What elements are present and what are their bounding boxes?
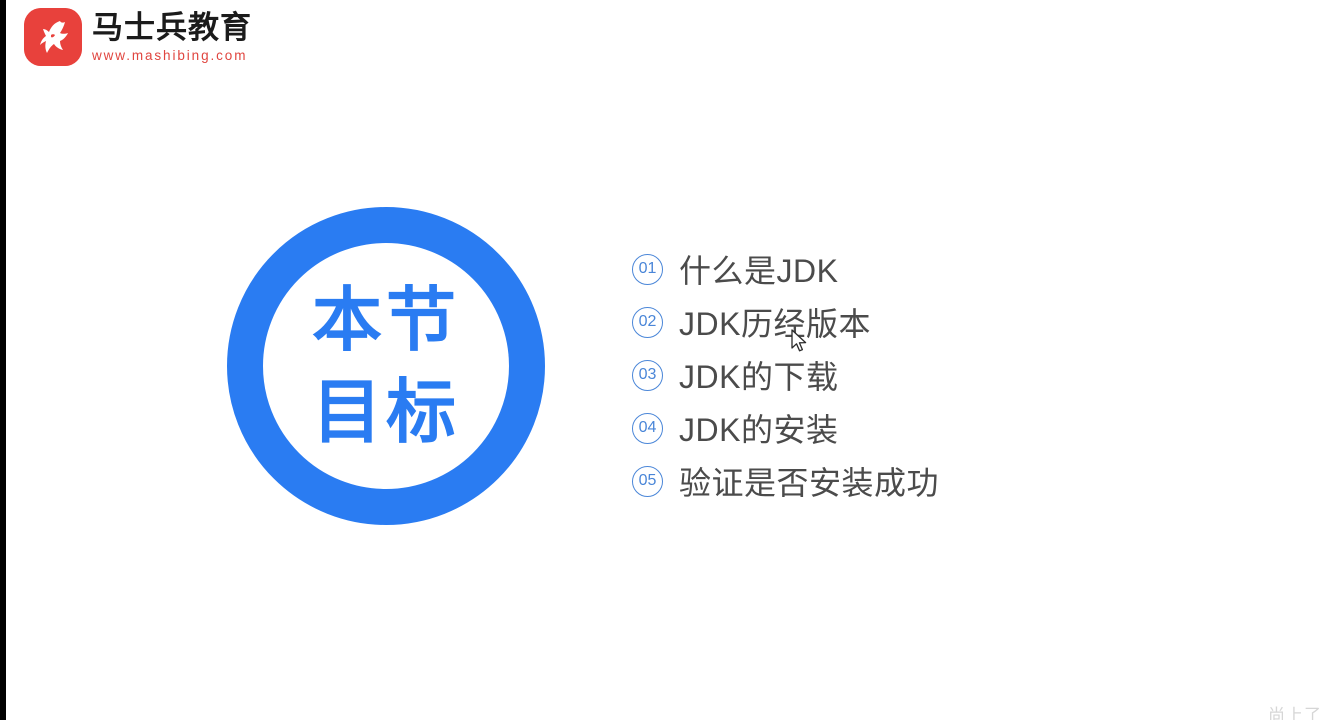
agenda-item-label: 什么是JDK: [679, 246, 838, 292]
agenda-item-label: JDK历经版本: [679, 299, 871, 345]
section-goal-emblem: 本节 目标: [227, 207, 545, 525]
agenda-list: 01 什么是JDK 02 JDK历经版本 03 JDK的下载 04 JDK的安装…: [632, 249, 939, 501]
agenda-number-badge: 03: [632, 360, 663, 391]
brand-name: 马士兵教育: [92, 12, 252, 43]
bilibili-logo-icon: [1272, 2, 1326, 46]
agenda-item-label: JDK的安装: [679, 405, 838, 451]
brand-logo: 马士兵教育 www.mashibing.com: [24, 8, 252, 66]
watermark-text: Java面试突击八股文: [978, 2, 1266, 46]
list-item: 01 什么是JDK: [632, 249, 939, 289]
agenda-number-badge: 01: [632, 254, 663, 285]
corner-note: 尚上了: [1268, 701, 1322, 720]
letterbox-bar-left: [0, 0, 6, 720]
list-item: 03 JDK的下载: [632, 355, 939, 395]
agenda-number-badge: 02: [632, 307, 663, 338]
channel-watermark: Java面试突击八股文: [978, 2, 1326, 46]
agenda-number-badge: 04: [632, 413, 663, 444]
agenda-number-badge: 05: [632, 466, 663, 497]
list-item: 05 验证是否安装成功: [632, 461, 939, 501]
emblem-line-2: 目标: [312, 366, 460, 458]
slide-canvas: 马士兵教育 www.mashibing.com Java面试突击八股文 本节 目…: [6, 0, 1330, 720]
emblem-line-1: 本节: [312, 274, 460, 366]
video-frame: 马士兵教育 www.mashibing.com Java面试突击八股文 本节 目…: [0, 0, 1330, 720]
agenda-item-label: JDK的下载: [679, 352, 838, 398]
list-item: 02 JDK历经版本: [632, 302, 939, 342]
list-item: 04 JDK的安装: [632, 408, 939, 448]
brand-text-block: 马士兵教育 www.mashibing.com: [92, 12, 252, 63]
horse-logo-icon: [24, 8, 82, 66]
agenda-item-label: 验证是否安装成功: [679, 458, 939, 504]
brand-url: www.mashibing.com: [92, 49, 252, 63]
